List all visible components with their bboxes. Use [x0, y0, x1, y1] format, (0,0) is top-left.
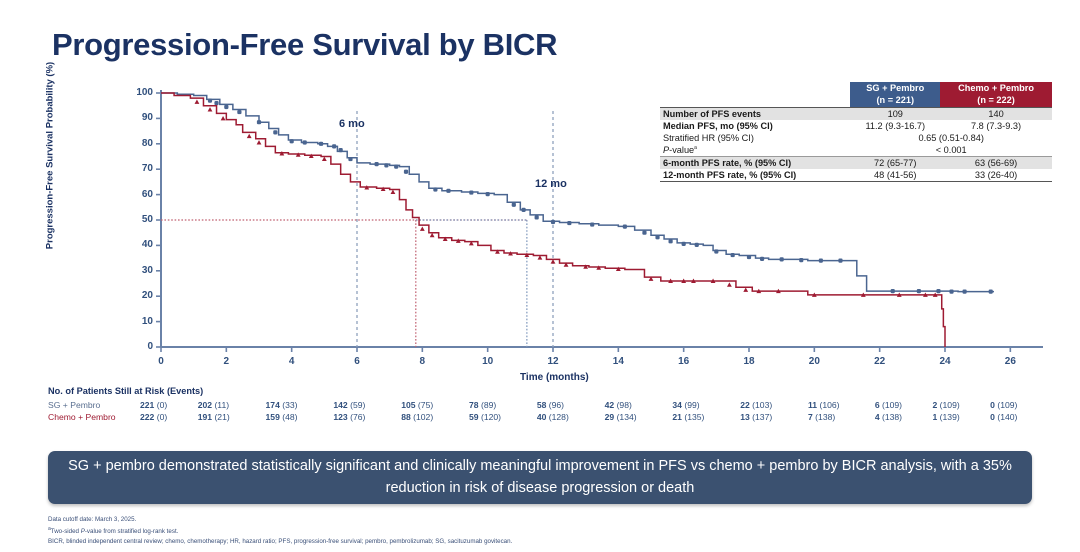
risk-event-count: (89) — [481, 400, 496, 410]
footnote-pvalue-pre: Two-sided — [51, 528, 81, 535]
censor-mark — [332, 144, 336, 148]
stats-row-label: 6-month PFS rate, % (95% CI) — [660, 157, 850, 170]
censor-mark — [551, 220, 555, 224]
stats-header-chemo: Chemo + Pembro(n = 222) — [940, 82, 1052, 108]
censor-mark — [819, 259, 823, 263]
risk-at-risk-count: 123 — [333, 412, 347, 422]
censor-mark — [433, 187, 437, 191]
y-tick-30: 30 — [121, 265, 153, 276]
footnote-pvalue-post: -value from stratified log-rank test. — [85, 528, 179, 535]
y-tick-40: 40 — [121, 239, 153, 250]
risk-event-count: (106) — [819, 400, 839, 410]
risk-table-block: No. of Patients Still at Risk (Events) S… — [48, 386, 1048, 423]
risk-at-risk-count: 40 — [537, 412, 547, 422]
risk-event-count: (96) — [549, 400, 564, 410]
risk-event-count: (33) — [282, 400, 297, 410]
x-tick-26: 26 — [994, 356, 1026, 367]
stats-header-sg-name: SG + Pembro — [853, 83, 937, 95]
risk-at-risk-count: 88 — [401, 412, 411, 422]
censor-mark — [221, 116, 226, 120]
risk-cell: 1 (139) — [932, 411, 990, 423]
risk-at-risk-count: 11 — [808, 400, 817, 410]
risk-at-risk-count: 34 — [672, 400, 682, 410]
censor-mark — [391, 190, 396, 194]
x-tick-22: 22 — [864, 356, 896, 367]
risk-at-risk-count: 191 — [198, 412, 212, 422]
censor-mark — [949, 290, 953, 294]
risk-at-risk-count: 1 — [932, 412, 937, 422]
stats-row: Number of PFS events109140 — [660, 108, 1052, 121]
x-tick-4: 4 — [276, 356, 308, 367]
risk-event-count: (140) — [997, 412, 1017, 422]
censor-mark — [799, 258, 803, 262]
censor-mark — [727, 282, 732, 286]
stats-table: SG + Pembro(n = 221)Chemo + Pembro(n = 2… — [660, 82, 1052, 182]
stats-row-span-value: < 0.001 — [850, 144, 1052, 157]
x-tick-2: 2 — [210, 356, 242, 367]
censor-mark — [714, 249, 718, 253]
footnotes: Data cutoff date: March 3, 2025. aTwo-si… — [48, 515, 512, 547]
risk-at-risk-count: 22 — [740, 400, 750, 410]
risk-cell: 159 (48) — [266, 411, 334, 423]
risk-event-count: (98) — [617, 400, 632, 410]
km-plot: Progression-Free Survival Probability (%… — [0, 0, 1080, 400]
censor-mark — [891, 289, 895, 293]
censor-mark — [642, 231, 646, 235]
censor-mark — [486, 192, 490, 196]
censor-mark — [348, 157, 352, 161]
stats-row-label: Number of PFS events — [660, 108, 850, 121]
risk-cell: 58 (96) — [537, 399, 605, 411]
risk-event-count: (120) — [481, 412, 501, 422]
risk-event-count: (102) — [413, 412, 433, 422]
stats-row-sg-value: 72 (65-77) — [850, 157, 940, 170]
censor-mark — [743, 287, 748, 291]
risk-event-count: (138) — [815, 412, 835, 422]
stats-row-chemo-value: 7.8 (7.3-9.3) — [940, 120, 1052, 132]
risk-event-count: (139) — [940, 412, 960, 422]
y-tick-90: 90 — [121, 112, 153, 123]
censor-mark — [936, 289, 940, 293]
stats-row: Median PFS, mo (95% CI)11.2 (9.3-16.7)7.… — [660, 120, 1052, 132]
censor-mark — [780, 257, 784, 261]
stats-row-label: 12-month PFS rate, % (95% CI) — [660, 169, 850, 182]
risk-event-count: (99) — [684, 400, 699, 410]
risk-event-count: (109) — [882, 400, 902, 410]
risk-event-count: (135) — [684, 412, 704, 422]
risk-at-risk-count: 6 — [875, 400, 880, 410]
risk-cell: 142 (59) — [333, 399, 401, 411]
stats-row: 6-month PFS rate, % (95% CI)72 (65-77)63… — [660, 157, 1052, 170]
censor-mark — [224, 105, 228, 109]
stats-row-chemo-value: 63 (56-69) — [940, 157, 1052, 170]
censor-mark — [237, 110, 241, 114]
y-tick-20: 20 — [121, 290, 153, 301]
stats-row-label: P-valuea — [660, 144, 850, 157]
stats-row: 12-month PFS rate, % (95% CI)48 (41-56)3… — [660, 169, 1052, 182]
risk-cell: 59 (120) — [469, 411, 537, 423]
censor-mark — [512, 203, 516, 207]
stats-row-sg-value: 109 — [850, 108, 940, 121]
censor-mark — [257, 140, 262, 144]
risk-event-count: (59) — [350, 400, 365, 410]
censor-mark — [290, 139, 294, 143]
slide-root: Progression-Free Survival by BICR Progre… — [0, 0, 1080, 552]
footnote-abbreviations: BICR, blinded independent central review… — [48, 537, 512, 547]
x-tick-16: 16 — [668, 356, 700, 367]
risk-row-label: SG + Pembro — [48, 399, 140, 411]
footnote-pvalue: aTwo-sided P-value from stratified log-r… — [48, 525, 512, 537]
y-tick-0: 0 — [121, 341, 153, 352]
x-tick-10: 10 — [472, 356, 504, 367]
censor-mark — [838, 259, 842, 263]
risk-event-count: (134) — [617, 412, 637, 422]
stats-row-label: Median PFS, mo (95% CI) — [660, 120, 850, 132]
risk-at-risk-count: 7 — [808, 412, 813, 422]
risk-event-count: (75) — [418, 400, 433, 410]
risk-cell: 34 (99) — [672, 399, 740, 411]
censor-mark — [208, 99, 212, 103]
risk-at-risk-count: 202 — [198, 400, 212, 410]
censor-mark — [375, 162, 379, 166]
x-tick-8: 8 — [406, 356, 438, 367]
stats-row-chemo-value: 33 (26-40) — [940, 169, 1052, 182]
risk-cell: 6 (109) — [875, 399, 933, 411]
censor-mark — [963, 290, 967, 294]
censor-mark — [469, 190, 473, 194]
censor-mark — [446, 189, 450, 193]
censor-mark — [384, 163, 388, 167]
y-tick-10: 10 — [121, 316, 153, 327]
risk-event-count: (0) — [157, 400, 168, 410]
risk-table-row: Chemo + Pembro222 (0)191 (21)159 (48)123… — [48, 411, 1048, 423]
risk-at-risk-count: 21 — [672, 412, 682, 422]
risk-cell: 191 (21) — [198, 411, 266, 423]
risk-cell: 88 (102) — [401, 411, 469, 423]
risk-at-risk-count: 59 — [469, 412, 479, 422]
risk-event-count: (21) — [214, 412, 229, 422]
stats-header-blank — [660, 82, 850, 108]
censor-mark — [682, 242, 686, 246]
censor-mark — [420, 226, 425, 230]
risk-cell: 11 (106) — [808, 399, 875, 411]
risk-cell: 21 (135) — [672, 411, 740, 423]
stats-row-chemo-value: 140 — [940, 108, 1052, 121]
annotation-12-mo: 12 mo — [535, 178, 567, 190]
censor-mark — [404, 170, 408, 174]
x-axis-label: Time (months) — [520, 372, 589, 383]
censor-mark — [731, 253, 735, 257]
stats-header-chemo-name: Chemo + Pembro — [943, 83, 1049, 95]
censor-mark — [430, 233, 435, 237]
x-tick-0: 0 — [145, 356, 177, 367]
conclusion-banner-text: SG + pembro demonstrated statistically s… — [48, 456, 1032, 498]
risk-at-risk-count: 78 — [469, 400, 479, 410]
censor-mark — [195, 99, 200, 103]
risk-at-risk-count: 105 — [401, 400, 415, 410]
censor-mark — [319, 142, 323, 146]
risk-at-risk-count: 29 — [605, 412, 615, 422]
risk-cell: 42 (98) — [605, 399, 673, 411]
risk-cell: 22 (103) — [740, 399, 808, 411]
censor-mark — [247, 134, 252, 138]
censor-mark — [655, 235, 659, 239]
stats-header-sg: SG + Pembro(n = 221) — [850, 82, 940, 108]
x-tick-18: 18 — [733, 356, 765, 367]
km-plot-svg — [0, 0, 1080, 400]
risk-at-risk-count: 0 — [990, 400, 995, 410]
risk-at-risk-count: 0 — [990, 412, 995, 422]
censor-mark — [669, 239, 673, 243]
risk-event-count: (48) — [282, 412, 297, 422]
stats-row: Stratified HR (95% CI)0.65 (0.51-0.84) — [660, 132, 1052, 144]
risk-cell: 7 (138) — [808, 411, 875, 423]
censor-mark — [747, 255, 751, 259]
risk-at-risk-count: 221 — [140, 400, 154, 410]
x-tick-20: 20 — [798, 356, 830, 367]
x-tick-14: 14 — [602, 356, 634, 367]
risk-cell: 202 (11) — [198, 399, 266, 411]
censor-mark — [989, 290, 993, 294]
stats-row-span-value: 0.65 (0.51-0.84) — [850, 132, 1052, 144]
risk-cell: 174 (33) — [266, 399, 334, 411]
stats-row-sg-value: 11.2 (9.3-16.7) — [850, 120, 940, 132]
y-tick-50: 50 — [121, 214, 153, 225]
risk-at-risk-count: 4 — [875, 412, 880, 422]
risk-table-row: SG + Pembro221 (0)202 (11)174 (33)142 (5… — [48, 399, 1048, 411]
annotation-6-mo: 6 mo — [339, 118, 365, 130]
risk-cell: 221 (0) — [140, 399, 198, 411]
censor-mark — [257, 120, 261, 124]
stats-row-label: Stratified HR (95% CI) — [660, 132, 850, 144]
risk-event-count: (128) — [549, 412, 569, 422]
risk-at-risk-count: 222 — [140, 412, 154, 422]
risk-cell: 105 (75) — [401, 399, 469, 411]
risk-at-risk-count: 142 — [333, 400, 347, 410]
risk-at-risk-count: 159 — [266, 412, 280, 422]
risk-row-label: Chemo + Pembro — [48, 411, 140, 423]
stats-row-sg-value: 48 (41-56) — [850, 169, 940, 182]
risk-at-risk-count: 42 — [605, 400, 615, 410]
risk-cell: 4 (138) — [875, 411, 933, 423]
censor-mark — [339, 148, 343, 152]
risk-cell: 40 (128) — [537, 411, 605, 423]
y-tick-80: 80 — [121, 138, 153, 149]
risk-event-count: (0) — [157, 412, 168, 422]
y-axis-label: Progression-Free Survival Probability (%… — [45, 46, 56, 266]
risk-cell: 2 (109) — [932, 399, 990, 411]
censor-mark — [208, 107, 213, 111]
risk-at-risk-count: 2 — [932, 400, 937, 410]
censor-mark — [214, 101, 218, 105]
risk-cell: 123 (76) — [333, 411, 401, 423]
censor-mark — [522, 208, 526, 212]
censor-mark — [590, 222, 594, 226]
risk-cell: 13 (137) — [740, 411, 808, 423]
x-tick-6: 6 — [341, 356, 373, 367]
risk-cell: 222 (0) — [140, 411, 198, 423]
risk-at-risk-count: 58 — [537, 400, 547, 410]
censor-mark — [760, 257, 764, 261]
risk-cell: 0 (140) — [990, 411, 1048, 423]
censor-mark — [695, 243, 699, 247]
stats-header-sg-n: (n = 221) — [853, 95, 937, 107]
risk-cell: 78 (89) — [469, 399, 537, 411]
conclusion-banner: SG + pembro demonstrated statistically s… — [48, 451, 1032, 504]
stats-header-chemo-n: (n = 222) — [943, 95, 1049, 107]
x-tick-12: 12 — [537, 356, 569, 367]
censor-mark — [567, 221, 571, 225]
risk-table: SG + Pembro221 (0)202 (11)174 (33)142 (5… — [48, 399, 1048, 423]
y-tick-100: 100 — [121, 87, 153, 98]
risk-at-risk-count: 13 — [740, 412, 750, 422]
stats-header-row: SG + Pembro(n = 221)Chemo + Pembro(n = 2… — [660, 82, 1052, 108]
risk-event-count: (109) — [940, 400, 960, 410]
y-tick-70: 70 — [121, 163, 153, 174]
censor-mark — [303, 140, 307, 144]
risk-event-count: (11) — [214, 400, 229, 410]
risk-at-risk-count: 174 — [266, 400, 280, 410]
x-tick-24: 24 — [929, 356, 961, 367]
risk-cell: 0 (109) — [990, 399, 1048, 411]
censor-mark — [917, 289, 921, 293]
censor-mark — [273, 130, 277, 134]
risk-event-count: (109) — [997, 400, 1017, 410]
risk-table-title: No. of Patients Still at Risk (Events) — [48, 386, 1048, 396]
y-tick-60: 60 — [121, 189, 153, 200]
censor-mark — [535, 215, 539, 219]
risk-event-count: (76) — [350, 412, 365, 422]
risk-event-count: (137) — [752, 412, 772, 422]
censor-mark — [623, 225, 627, 229]
stats-row: P-valuea< 0.001 — [660, 144, 1052, 157]
censor-mark — [322, 157, 327, 161]
risk-cell: 29 (134) — [605, 411, 673, 423]
censor-mark — [394, 165, 398, 169]
footnote-data-cutoff: Data cutoff date: March 3, 2025. — [48, 515, 512, 525]
risk-event-count: (138) — [882, 412, 902, 422]
risk-event-count: (103) — [752, 400, 772, 410]
